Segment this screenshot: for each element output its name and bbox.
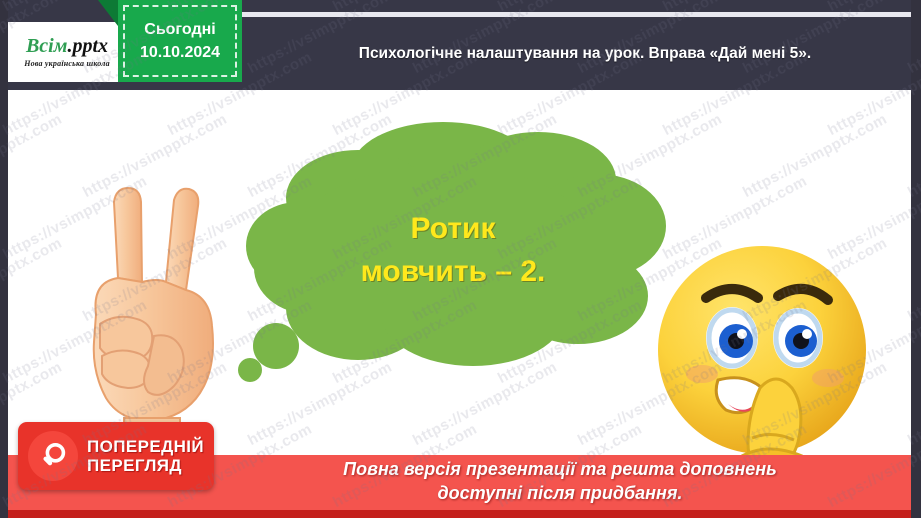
brand-logo: Всім.pptx Нова українська школа [8, 22, 126, 82]
header-accent-strip [240, 12, 921, 17]
banner-line-1: Повна версія презентації та решта доповн… [240, 458, 880, 482]
shushing-face-icon [656, 242, 872, 474]
page-title: Психологічне налаштування на урок. Вправ… [255, 45, 915, 63]
watermark-text: https://vsimpptx.com [0, 110, 65, 201]
preview-label-line-2: ПЕРЕГЛЯД [87, 456, 204, 475]
preview-button[interactable]: ПОПЕРЕДНІЙ ПЕРЕГЛЯД [18, 422, 214, 490]
purchase-banner-text: Повна версія презентації та решта доповн… [240, 458, 880, 506]
brand-name: Всім.pptx [26, 36, 108, 56]
watermark-text: https://vsimpptx.com [740, 110, 890, 201]
watermark-text: https://vsimpptx.com [0, 234, 65, 325]
preview-button-label: ПОПЕРЕДНІЙ ПЕРЕГЛЯД [87, 437, 204, 475]
banner-bottom-edge [8, 510, 911, 518]
victory-hand-icon [62, 186, 242, 446]
banner-line-2: доступні після придбання. [240, 482, 880, 506]
magnifier-icon [28, 431, 78, 481]
date-badge-label: Сьогодні [144, 18, 215, 41]
date-badge-value: 10.10.2024 [140, 41, 220, 64]
badge-fold-icon [98, 0, 118, 26]
brand-name-primary: Всім [26, 35, 67, 57]
thought-bubble [238, 118, 668, 383]
preview-label-line-1: ПОПЕРЕДНІЙ [87, 437, 204, 456]
brand-tagline: Нова українська школа [24, 59, 110, 68]
slide-canvas: Психологічне налаштування на урок. Вправ… [0, 0, 921, 518]
date-badge: Сьогодні 10.10.2024 [118, 0, 242, 82]
brand-name-secondary: .pptx [67, 35, 108, 57]
left-edge-frame [0, 0, 8, 518]
right-edge-frame [911, 0, 921, 518]
